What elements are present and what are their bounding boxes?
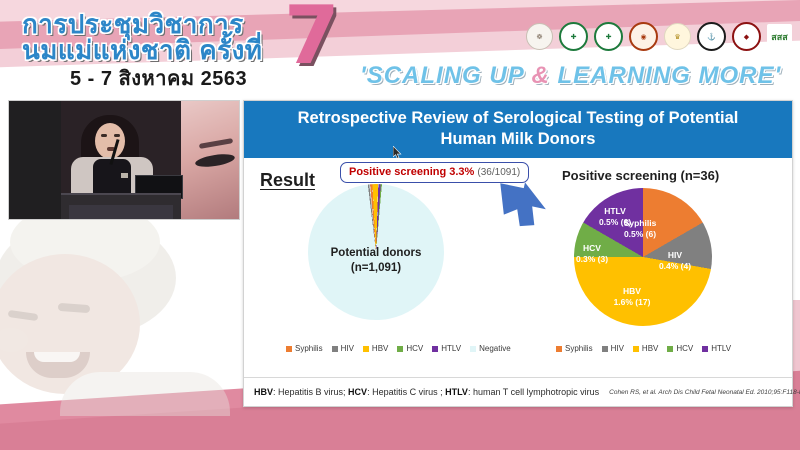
podium-base: [69, 205, 173, 219]
source-citation: Cohen RS, et al. Arch Dis Child Fetal Ne…: [609, 389, 800, 396]
baby-teeth: [34, 352, 80, 362]
pie-label-hcv-value: 0.3% (3): [568, 254, 616, 265]
presenter-video-panel[interactable]: [8, 100, 240, 220]
logo-thaihealth-icon: สสส: [767, 24, 792, 49]
logo-glyph: ☸: [536, 33, 542, 41]
pie-left-center-label: Potential donors (n=1,091): [308, 246, 444, 276]
conference-header-banner: การประชุมวิชาการ นมแม่แห่งชาติ ครั้งที่ …: [0, 0, 800, 95]
abbrev-hbv-value: : Hepatitis B virus;: [273, 387, 348, 397]
baby-watermark-photo: [0, 216, 246, 416]
presenter-badge: [121, 173, 128, 178]
abbrev-htlv-key: HTLV: [445, 387, 468, 397]
slogan-text-part2: LEARNING MORE': [550, 62, 781, 89]
pie-label-hiv: HIV 0.4% (4): [650, 250, 700, 271]
pie-label-hbv-name: HBV: [602, 286, 662, 297]
logo-glyph: ◉: [640, 33, 646, 41]
legend-swatch-htlv: [702, 346, 708, 352]
legend-label: Syphilis: [565, 344, 593, 353]
pie-left-label-line1: Potential donors: [308, 246, 444, 261]
pie-label-hcv: HCV 0.3% (3): [568, 243, 616, 264]
abbrev-hbv-key: HBV: [254, 387, 273, 397]
legend-left-chart: Syphilis HIV HBV HCV HTLV Negative: [286, 344, 511, 353]
logo-orange-crest-icon: ◉: [629, 22, 658, 51]
legend-swatch-syphilis: [556, 346, 562, 352]
pie-label-htlv-value: 0.5% (6): [590, 217, 640, 228]
legend-label: HIV: [341, 344, 354, 353]
legend-item: HTLV: [702, 344, 731, 353]
blue-arrow-icon: [494, 182, 548, 230]
presentation-slide[interactable]: Retrospective Review of Serological Test…: [243, 100, 793, 407]
legend-swatch-htlv: [432, 346, 438, 352]
conference-slogan: 'SCALING UP & LEARNING MORE': [360, 62, 781, 90]
legend-item: HBV: [633, 344, 658, 353]
pie-label-syphilis-value: 0.5% (6): [611, 229, 669, 240]
conference-edition-number: 7: [284, 0, 340, 76]
abbrev-htlv-value: : human T cell lymphotropic virus: [468, 387, 599, 397]
logo-royal-emblem-icon: ☸: [526, 23, 553, 50]
legend-label: HTLV: [711, 344, 731, 353]
pie-label-hiv-name: HIV: [650, 250, 700, 261]
legend-right-chart: Syphilis HIV HBV HCV HTLV: [556, 344, 731, 353]
legend-label: Syphilis: [295, 344, 323, 353]
legend-label: HIV: [611, 344, 624, 353]
pie-left-label-line2: (n=1,091): [308, 261, 444, 276]
pie-label-hbv-value: 1.6% (17): [602, 297, 662, 308]
legend-item: HIV: [332, 344, 354, 353]
legend-label: HBV: [372, 344, 388, 353]
legend-item: HIV: [602, 344, 624, 353]
logo-glyph: ◆: [744, 33, 749, 41]
logo-black-crest-icon: ⚓: [697, 22, 726, 51]
callout-highlight-text: Positive screening 3.3%: [349, 166, 474, 178]
legend-item: Syphilis: [556, 344, 593, 353]
logo-red-crest-icon: ◆: [732, 22, 761, 51]
presenter-face: [95, 123, 125, 159]
legend-swatch-hbv: [633, 346, 639, 352]
presenter-eye-right: [114, 134, 120, 137]
mouse-cursor-icon: [393, 146, 402, 159]
legend-item: HCV: [667, 344, 693, 353]
legend-swatch-hcv: [397, 346, 403, 352]
pie-label-hbv: HBV 1.6% (17): [602, 286, 662, 307]
legend-swatch-negative: [470, 346, 476, 352]
video-background-left: [9, 101, 61, 219]
abbrev-hcv-value: : Hepatitis C virus ;: [367, 387, 445, 397]
legend-label: HTLV: [441, 344, 461, 353]
logo-green-cross-2-icon: ✚: [594, 22, 623, 51]
logo-gold-crest-icon: ♛: [664, 23, 691, 50]
conference-date-thai: 5 - 7 สิงหาคม 2563: [70, 62, 247, 94]
logo-glyph: ♛: [674, 33, 680, 41]
legend-item: Syphilis: [286, 344, 323, 353]
slide-footnote: HBV: Hepatitis B virus; HCV: Hepatitis C…: [244, 377, 792, 406]
logo-green-cross-1-icon: ✚: [559, 22, 588, 51]
logo-glyph: ✚: [571, 33, 577, 41]
legend-swatch-hiv: [602, 346, 608, 352]
positive-screening-callout: Positive screening 3.3% (36/1091): [340, 162, 529, 183]
legend-swatch-hiv: [332, 346, 338, 352]
legend-swatch-syphilis: [286, 346, 292, 352]
slide-title: Retrospective Review of Serological Test…: [244, 101, 792, 158]
abbreviation-definitions: HBV: Hepatitis B virus; HCV: Hepatitis C…: [254, 387, 599, 397]
legend-label: HCV: [406, 344, 423, 353]
legend-item: HTLV: [432, 344, 461, 353]
legend-label: HBV: [642, 344, 658, 353]
result-heading: Result: [260, 170, 315, 191]
pie-label-htlv: HTLV 0.5% (6): [590, 206, 640, 227]
legend-item: HCV: [397, 344, 423, 353]
pie-label-hcv-name: HCV: [568, 243, 616, 254]
presenter-eye-left: [101, 134, 107, 137]
logo-glyph: ✚: [606, 33, 612, 41]
slide-body: Result Positive screening 3.3% (36/1091)…: [244, 158, 792, 374]
pie-label-hiv-value: 0.4% (4): [650, 261, 700, 272]
slogan-text-part1: 'SCALING UP: [360, 62, 532, 89]
legend-item: HBV: [363, 344, 388, 353]
pie-label-htlv-name: HTLV: [590, 206, 640, 217]
legend-label: HCV: [676, 344, 693, 353]
baby-body: [60, 372, 230, 416]
right-chart-title: Positive screening (n=36): [562, 168, 719, 183]
logo-glyph: ⚓: [707, 33, 716, 41]
callout-fraction-text: (36/1091): [477, 167, 520, 178]
sponsor-logo-row: ☸ ✚ ✚ ◉ ♛ ⚓ ◆ สสส: [526, 22, 792, 51]
abbrev-hcv-key: HCV: [348, 387, 367, 397]
legend-swatch-hcv: [667, 346, 673, 352]
slogan-ampersand: &: [532, 62, 550, 89]
legend-swatch-hbv: [363, 346, 369, 352]
legend-item: Negative: [470, 344, 511, 353]
logo-glyph: สสส: [771, 30, 787, 44]
legend-label: Negative: [479, 344, 511, 353]
screenshot-stage: การประชุมวิชาการ นมแม่แห่งชาติ ครั้งที่ …: [0, 0, 800, 450]
